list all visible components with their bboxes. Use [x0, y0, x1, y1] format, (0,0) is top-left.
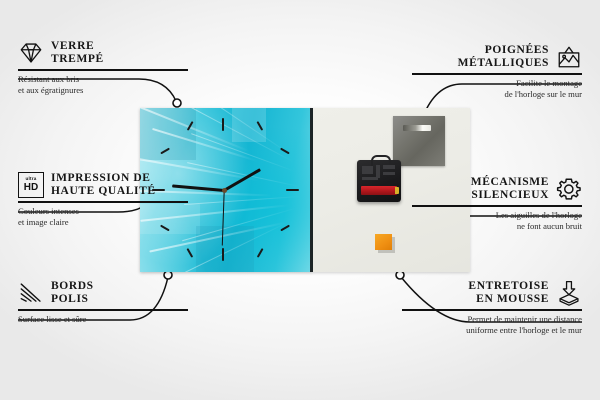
- callout-rule: [412, 205, 582, 207]
- callout-title-line2: POLIS: [51, 293, 94, 306]
- callout-rule: [18, 69, 188, 71]
- callout-title-line2: EN MOUSSE: [468, 293, 549, 306]
- callout-title-line2: TREMPÉ: [51, 53, 104, 66]
- callout-title-line1: BORDS: [51, 280, 94, 293]
- callout-entretoise-en-mousse: ENTRETOISE EN MOUSSE Permet de maintenir…: [402, 280, 582, 335]
- callout-desc-line2: et image claire: [18, 217, 188, 227]
- battery: [361, 186, 397, 195]
- callout-title-line1: MÉCANISME: [471, 176, 549, 189]
- callout-title-line2: HAUTE QUALITÉ: [51, 185, 156, 198]
- polished-edge-lines-icon: [18, 280, 44, 306]
- ultra-hd-badge-icon: ultra HD: [18, 172, 44, 198]
- callout-desc-line2: et aux égratignures: [18, 85, 188, 95]
- callout-rule: [412, 73, 582, 75]
- clock-center-cap: [222, 188, 227, 193]
- foam-spacer-arrow-icon: [556, 280, 582, 306]
- callout-impression-haute-qualite: ultra HD IMPRESSION DE HAUTE QUALITÉ Cou…: [18, 172, 188, 227]
- callout-desc-line1: Surface lisse et sûre: [18, 314, 188, 324]
- callout-title-line1: IMPRESSION DE: [51, 172, 156, 185]
- foam-spacer: [375, 234, 392, 250]
- callout-title-line2: SILENCIEUX: [471, 189, 549, 202]
- battery-terminal: [395, 187, 399, 194]
- callout-desc-line1: Facilite le montage: [412, 78, 582, 88]
- callout-desc-line1: Permet de maintenir une distance: [402, 314, 582, 324]
- callout-desc-line2: ne font aucun bruit: [412, 221, 582, 231]
- callout-bords-polis: BORDS POLIS Surface lisse et sûre: [18, 280, 188, 325]
- callout-desc-line2: de l'horloge sur le mur: [412, 89, 582, 99]
- callout-desc-line2: uniforme entre l'horloge et le mur: [402, 325, 582, 335]
- marker-verre-trempe: [173, 99, 181, 107]
- callout-title-line1: POIGNÉES: [458, 44, 549, 57]
- metal-hanger: [393, 116, 445, 166]
- picture-hanger-icon: [556, 44, 582, 70]
- gear-icon: [556, 176, 582, 202]
- clock-mechanism: [357, 160, 401, 202]
- callout-title-line1: ENTRETOISE: [468, 280, 549, 293]
- clock-second-hand: [221, 191, 224, 246]
- callout-rule: [402, 309, 582, 311]
- marker-entretoise: [396, 271, 404, 279]
- callout-poignees-metalliques: POIGNÉES MÉTALLIQUES Facilite le montage…: [412, 44, 582, 99]
- diamond-icon: [18, 40, 44, 66]
- hanger-slot: [403, 125, 431, 131]
- clock-hour-hand: [223, 168, 261, 192]
- callout-title-line2: MÉTALLIQUES: [458, 57, 549, 70]
- callout-title-line1: VERRE: [51, 40, 104, 53]
- infographic-canvas: VERRE TREMPÉ Résistant aux bris et aux é…: [0, 0, 600, 400]
- callout-rule: [18, 201, 188, 203]
- callout-desc-line1: Couleurs intenses: [18, 206, 188, 216]
- callout-verre-trempe: VERRE TREMPÉ Résistant aux bris et aux é…: [18, 40, 188, 95]
- badge-text-hd: HD: [24, 183, 38, 193]
- callout-mecanisme-silencieux: MÉCANISME SILENCIEUX Les aiguilles de l'…: [412, 176, 582, 231]
- callout-desc-line1: Résistant aux bris: [18, 74, 188, 84]
- callout-desc-line1: Les aiguilles de l'horloge: [412, 210, 582, 220]
- marker-bords-polis: [164, 271, 172, 279]
- callout-rule: [18, 309, 188, 311]
